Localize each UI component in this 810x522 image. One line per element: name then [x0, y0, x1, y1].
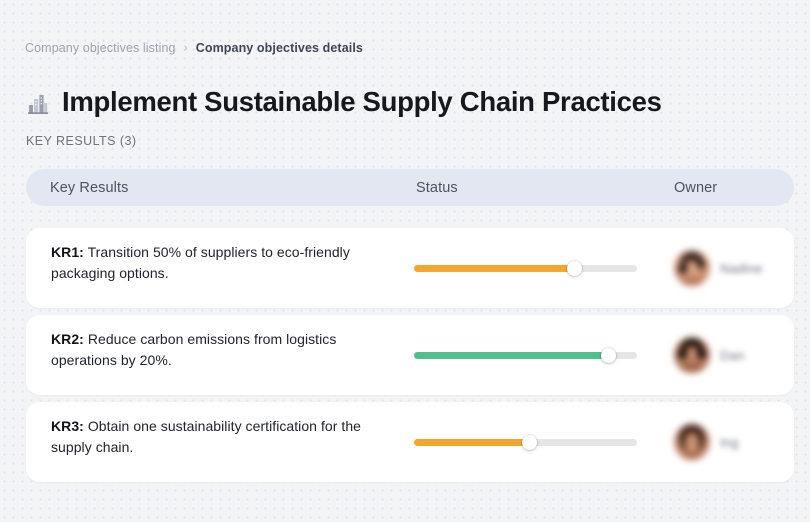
progress-fill: [414, 352, 608, 359]
progress-fill: [414, 439, 530, 446]
progress-slider[interactable]: [414, 265, 637, 272]
page-title-row: Implement Sustainable Supply Chain Pract…: [26, 66, 662, 139]
owner-cell[interactable]: Nadine: [674, 228, 762, 308]
key-result-label: KR3:: [51, 418, 84, 434]
column-header-owner: Owner: [674, 180, 717, 196]
table-row[interactable]: KR1: Transition 50% of suppliers to eco-…: [26, 228, 794, 308]
key-result-description: Obtain one sustainability certification …: [51, 418, 361, 455]
avatar: [674, 337, 710, 373]
progress-slider[interactable]: [414, 352, 637, 359]
column-header-key-results: Key Results: [50, 180, 128, 196]
key-result-label: KR2:: [51, 331, 84, 347]
progress-knob[interactable]: [567, 261, 582, 276]
breadcrumb: Company objectives listing › Company obj…: [25, 40, 363, 56]
table-header-row: Key Results Status Owner: [26, 169, 794, 206]
column-header-status: Status: [416, 180, 458, 196]
chevron-right-icon: ›: [184, 40, 188, 56]
key-result-label: KR1:: [51, 244, 84, 260]
status-progress-cell: [414, 228, 637, 308]
avatar: [674, 250, 710, 286]
key-result-description: Reduce carbon emissions from logistics o…: [51, 331, 336, 368]
key-result-description: Transition 50% of suppliers to eco-frien…: [51, 244, 350, 281]
table-row[interactable]: KR3: Obtain one sustainability certifica…: [26, 402, 794, 482]
building-skyline-icon: [26, 92, 50, 116]
breadcrumb-parent-link[interactable]: Company objectives listing: [25, 40, 176, 56]
owner-name: Ing: [720, 435, 739, 450]
page-title: Implement Sustainable Supply Chain Pract…: [62, 84, 662, 120]
owner-name: Dan: [720, 348, 744, 363]
owner-cell[interactable]: Ing: [674, 402, 739, 482]
breadcrumb-current[interactable]: Company objectives details: [196, 40, 363, 56]
progress-knob[interactable]: [522, 435, 537, 450]
progress-slider[interactable]: [414, 439, 637, 446]
key-results-section-label: KEY RESULTS (3): [26, 133, 137, 149]
table-row[interactable]: KR2: Reduce carbon emissions from logist…: [26, 315, 794, 395]
key-result-text: KR3: Obtain one sustainability certifica…: [51, 416, 396, 458]
owner-name: Nadine: [720, 261, 762, 276]
owner-cell[interactable]: Dan: [674, 315, 744, 395]
avatar: [674, 424, 710, 460]
key-result-text: KR1: Transition 50% of suppliers to eco-…: [51, 242, 396, 284]
key-result-text: KR2: Reduce carbon emissions from logist…: [51, 329, 396, 371]
status-progress-cell: [414, 402, 637, 482]
progress-knob[interactable]: [601, 348, 616, 363]
key-results-list: KR1: Transition 50% of suppliers to eco-…: [26, 228, 794, 489]
status-progress-cell: [414, 315, 637, 395]
page-root: Company objectives listing › Company obj…: [0, 0, 810, 522]
progress-fill: [414, 265, 575, 272]
